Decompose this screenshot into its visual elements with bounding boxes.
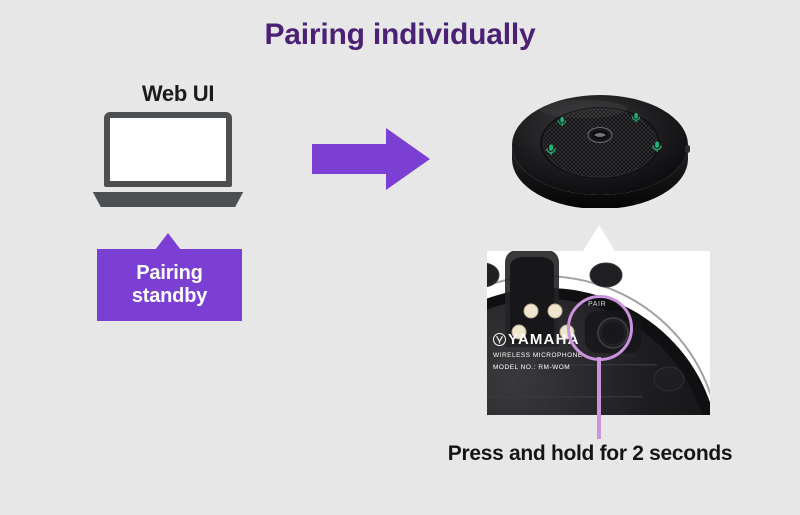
pair-button-highlight <box>567 295 633 361</box>
pair-button-leader-line <box>597 357 601 439</box>
photo-callout-pointer <box>583 225 615 251</box>
diagram-canvas: Pairing individually Web UI Pairing stan… <box>0 0 800 515</box>
callout-line-1: Pairing <box>136 262 202 285</box>
callout-pointer <box>155 233 181 250</box>
laptop-screen <box>110 118 226 181</box>
callout-line-2: standby <box>132 285 207 308</box>
laptop-base <box>88 192 248 207</box>
yamaha-tuning-fork-icon <box>493 333 506 346</box>
device-model-text: MODEL NO.: RM-WOM <box>493 363 623 372</box>
instruction-caption: Press and hold for 2 seconds <box>380 442 800 466</box>
page-title: Pairing individually <box>0 18 800 52</box>
web-ui-label: Web UI <box>88 81 268 107</box>
pairing-standby-text: Pairing standby <box>97 249 242 321</box>
wireless-microphone-icon <box>505 93 695 208</box>
right-arrow-icon <box>312 128 430 190</box>
laptop-icon <box>96 112 256 212</box>
pairing-standby-callout: Pairing standby <box>97 249 242 321</box>
laptop-lid <box>104 112 232 187</box>
